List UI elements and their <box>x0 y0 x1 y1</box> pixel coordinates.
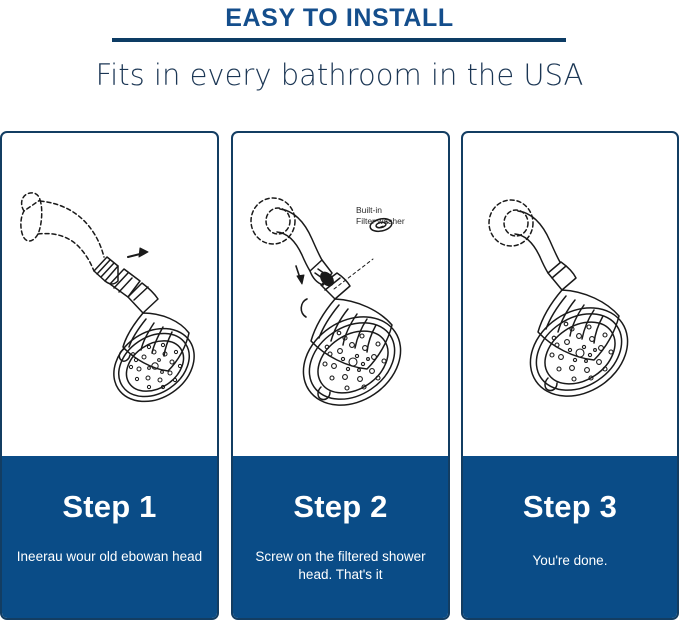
page-title: EASY TO INSTALL <box>0 0 679 31</box>
steps-container: Step 1 Ineerau wour old ebowan head <box>0 131 679 622</box>
step-title-1: Step 1 <box>12 456 207 522</box>
easy-to-install-infographic: EASY TO INSTALL Fits in every bathroom i… <box>0 0 679 622</box>
shower-head-attach-illustration: Built-in Filter washer <box>233 133 448 460</box>
filter-washer-annotation: Built-in Filter washer <box>356 205 405 228</box>
step-description-1: Ineerau wour old ebowan head <box>12 522 207 566</box>
step-card-2[interactable]: Built-in Filter washer Step 2 Screw on t… <box>231 131 450 620</box>
step-band-2: Step 2 Screw on the filtered shower head… <box>233 456 448 618</box>
title-divider <box>112 38 566 42</box>
filter-washer-label-line1: Built-in <box>356 205 405 216</box>
filter-washer-label-line2: Filter washer <box>356 216 405 227</box>
header: EASY TO INSTALL Fits in every bathroom i… <box>0 0 679 31</box>
step-title-2: Step 2 <box>243 456 438 522</box>
shower-head-installed-illustration <box>463 133 677 460</box>
step-band-1: Step 1 Ineerau wour old ebowan head <box>2 456 217 618</box>
step-card-3[interactable]: Step 3 You're done. <box>461 131 679 620</box>
step-band-3: Step 3 You're done. <box>463 456 677 618</box>
step-description-2: Screw on the filtered shower head. That'… <box>243 522 438 584</box>
step-card-1[interactable]: Step 1 Ineerau wour old ebowan head <box>0 131 219 620</box>
step-title-3: Step 3 <box>473 456 667 522</box>
shower-head-removal-illustration <box>2 133 217 460</box>
step-description-3: You're done. <box>473 522 667 570</box>
page-subtitle: Fits in every bathroom in the USA <box>0 58 679 93</box>
